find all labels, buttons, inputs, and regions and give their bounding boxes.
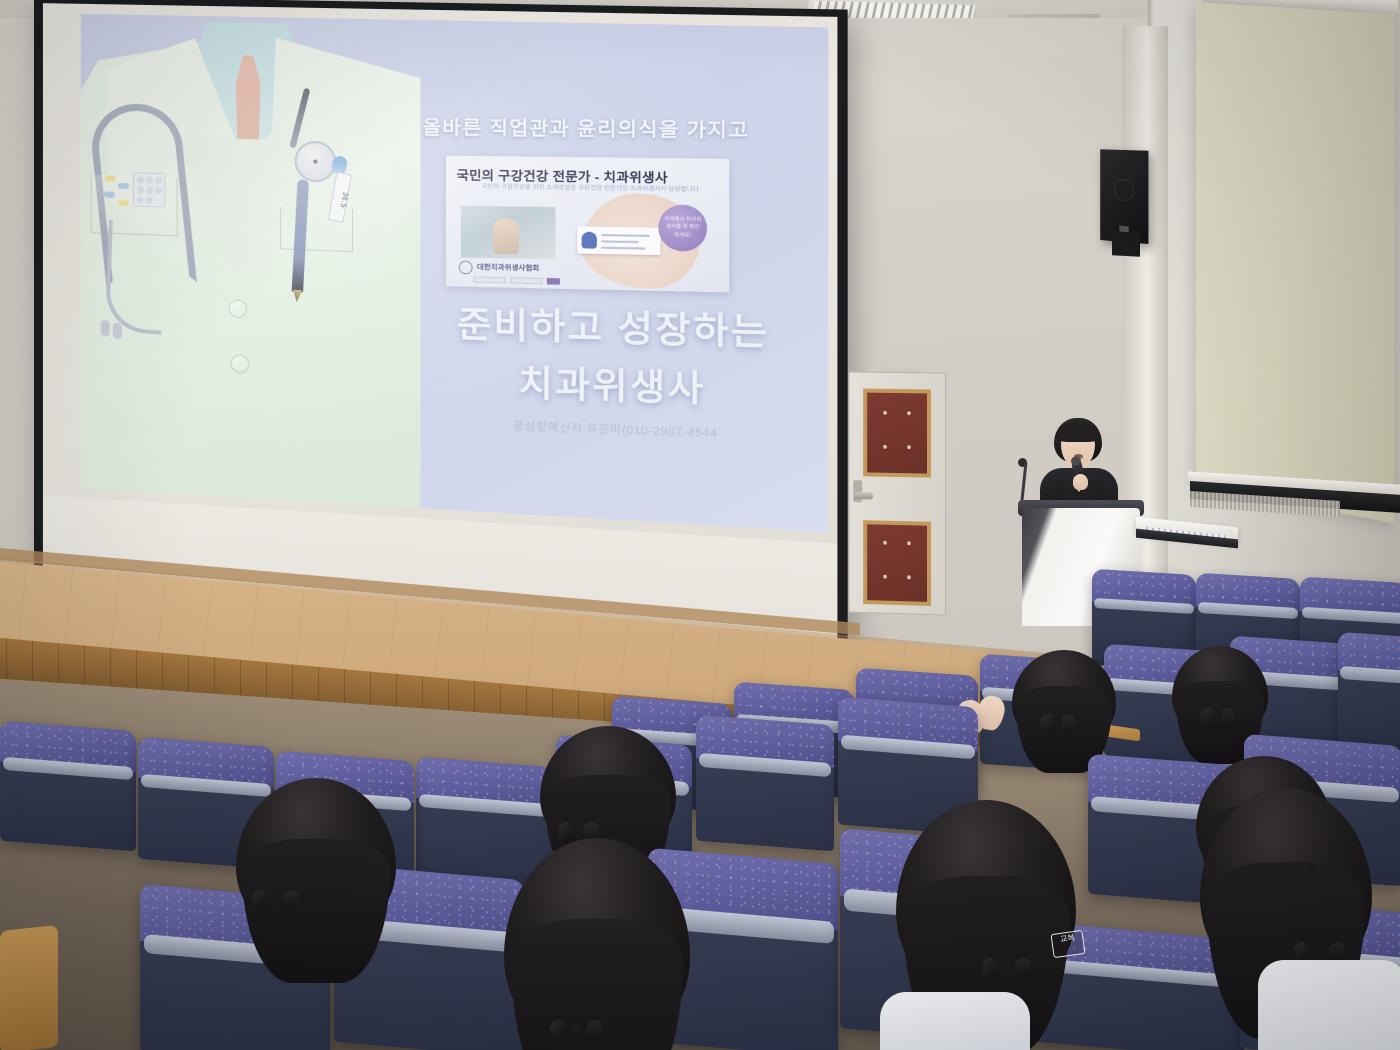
auditorium-photo: 36.5 올바른 직업관과 윤리의식을 가지고 국민의 구강건강 전문가 - 치… [0, 0, 1400, 1050]
auditorium-seat[interactable] [0, 721, 136, 852]
sponsor-mark-accent [547, 278, 560, 285]
mascot-icon [582, 232, 597, 249]
pill-icon [137, 196, 144, 203]
seal-icon [459, 260, 473, 274]
bow-knot [1053, 718, 1062, 730]
bow-knot [574, 826, 583, 838]
door-stud [907, 445, 911, 449]
presentation-slide: 36.5 올바른 직업관과 윤리의식을 가지고 국민의 구강건강 전문가 - 치… [81, 14, 829, 532]
coat-button [231, 354, 249, 373]
hair-bow [1200, 708, 1234, 728]
poster-image: 국민의 구강건강 전문가 - 치과위생사 국민의 구강건강을 위한 소개영상은 … [446, 156, 729, 293]
association-name: 대한치과위생사협회 [477, 262, 539, 274]
door-stud [883, 541, 887, 545]
pill-icon [155, 187, 162, 194]
student-head [1172, 646, 1268, 738]
slide-title: 준비하고 성장하는 치과위생사 [401, 294, 828, 417]
window-roller-blind[interactable] [1196, 2, 1394, 523]
door-stud [883, 445, 887, 449]
slide-title-line2: 치과위생사 [401, 351, 828, 417]
seat-fabric [1092, 569, 1196, 608]
door-panel-upper [863, 389, 931, 478]
seat-fabric [1300, 577, 1400, 618]
uniform-emblem: 교복 [1050, 930, 1085, 958]
poster-callout-badge: 치과에서 치과위생사를 꼭 확인하세요! [658, 204, 707, 251]
auditorium-door[interactable] [848, 371, 946, 615]
presenter-hand [1073, 474, 1088, 490]
hair-bow [1040, 714, 1074, 734]
door-stud [907, 541, 911, 545]
student-shoulder [880, 992, 1030, 1050]
student-head [236, 778, 396, 938]
auditorium-seat[interactable] [1338, 632, 1400, 754]
door-stud [883, 411, 887, 415]
slide-credit: 꿈성장메신저 유은미(010-2907-4544 [420, 414, 814, 444]
wall-speaker [1100, 149, 1148, 244]
stethoscope-earpiece [101, 320, 110, 337]
door-stud [907, 411, 911, 415]
association-logo: 대한치과위생사협회 [459, 260, 588, 277]
student-head [1012, 650, 1116, 746]
capsule-icon [105, 175, 116, 181]
card-line [601, 234, 649, 237]
stethoscope-chestpiece-icon [295, 140, 337, 182]
pill-icon [146, 187, 153, 194]
slide-title-line1: 준비하고 성장하는 [401, 294, 828, 358]
poster-clinic-photo [461, 206, 556, 260]
student-shoulder [1258, 960, 1400, 1050]
capsule-icon [104, 191, 115, 197]
door-stud [907, 575, 911, 579]
pill-icon [146, 197, 153, 204]
capsule-icon [118, 200, 129, 206]
door-handle[interactable] [853, 492, 873, 499]
hair-bow [982, 958, 1030, 986]
card-line [601, 240, 638, 243]
card-line [601, 247, 645, 250]
stethoscope-earpiece [113, 323, 122, 340]
hair-bow [252, 890, 298, 918]
speaker-cone-icon [1114, 179, 1134, 202]
poster-sponsor-row [474, 276, 560, 284]
capsule-icon [118, 183, 129, 189]
seat-fabric [1196, 573, 1300, 613]
bow-knot [1315, 946, 1324, 958]
student-head [896, 800, 1076, 1000]
seat-fabric [1338, 632, 1400, 679]
student-head [504, 838, 690, 1050]
speaker-mount-bracket [1112, 231, 1140, 256]
pill-blister-pack-icon [133, 172, 165, 207]
student-head [1200, 788, 1372, 984]
bow-knot [1308, 864, 1317, 876]
door-stud [883, 575, 887, 579]
student-head [540, 726, 676, 854]
bow-knot [271, 894, 280, 906]
poster-subtitle: 국민의 구강건강을 위한 소개영상은 구강건강 전문가인 치과위생사가 담당합니… [476, 183, 705, 196]
seat-armrest[interactable] [0, 925, 58, 1050]
auditorium-seat[interactable] [696, 715, 834, 852]
lab-coat-illustration: 36.5 [81, 14, 421, 508]
hair-bow [550, 1020, 602, 1050]
pill-icon [146, 177, 153, 184]
bow-knot [572, 1024, 581, 1036]
door-panel-lower [863, 520, 931, 606]
coat-button [229, 299, 247, 318]
poster-id-card [577, 226, 660, 255]
pill-icon [137, 176, 144, 183]
sponsor-mark [510, 277, 542, 284]
bow-knot [1213, 712, 1222, 724]
pill-icon [155, 177, 162, 184]
pill-icon [137, 186, 144, 193]
sponsor-mark [474, 276, 506, 283]
bow-knot [1002, 962, 1011, 974]
slide-heading: 올바른 직업관과 윤리의식을 가지고 [423, 112, 795, 144]
